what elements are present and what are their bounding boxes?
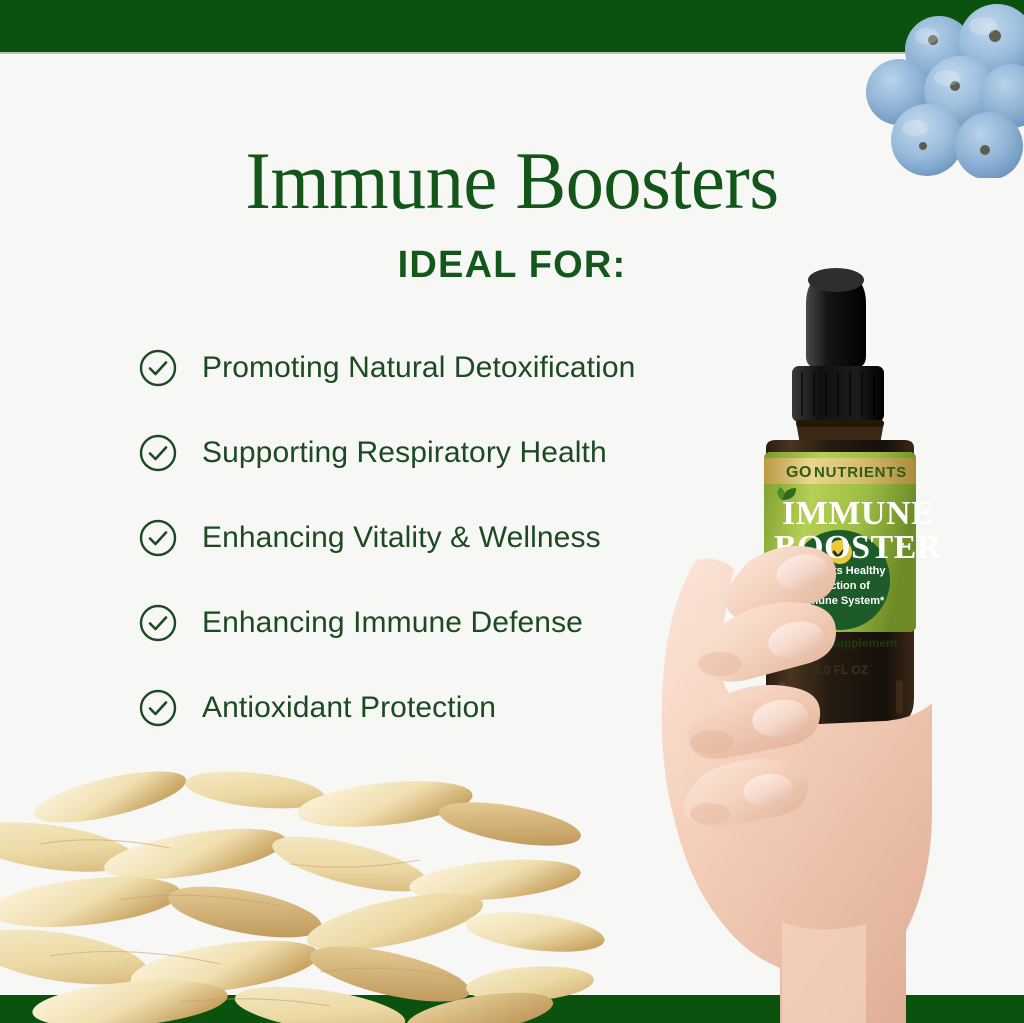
list-item-label: Enhancing Vitality & Wellness (202, 521, 601, 555)
list-item-label: Supporting Respiratory Health (202, 436, 607, 470)
blueberry-cluster-icon (839, 0, 1024, 178)
check-circle-icon (138, 603, 178, 643)
product-name-asterisk: * (896, 538, 905, 558)
astragalus-root-slices-icon (0, 752, 610, 1023)
check-circle-icon (138, 518, 178, 558)
list-item-label: Promoting Natural Detoxification (202, 351, 635, 385)
list-item: Promoting Natural Detoxification (138, 348, 635, 388)
check-circle-icon (138, 688, 178, 728)
hand-holding-bottle-icon: GO NUTRIENTS IMMUNE BOOSTER * Supports H… (600, 262, 1024, 1023)
list-item: Antioxidant Protection (138, 688, 635, 728)
check-circle-icon (138, 433, 178, 473)
benefits-list: Promoting Natural Detoxification Support… (138, 348, 635, 728)
product-name-line1: IMMUNE (782, 495, 934, 532)
brand-nutrients: NUTRIENTS (814, 464, 907, 481)
brand-go: GO (786, 464, 812, 481)
list-item-label: Antioxidant Protection (202, 691, 496, 725)
list-item: Enhancing Vitality & Wellness (138, 518, 635, 558)
promo-image: Immune Boosters IDEAL FOR: Promoting Nat… (0, 0, 1024, 1023)
volume-label: 2.0 FL OZ (814, 663, 868, 677)
list-item-label: Enhancing Immune Defense (202, 606, 583, 640)
check-circle-icon (138, 348, 178, 388)
list-item: Supporting Respiratory Health (138, 433, 635, 473)
list-item: Enhancing Immune Defense (138, 603, 635, 643)
